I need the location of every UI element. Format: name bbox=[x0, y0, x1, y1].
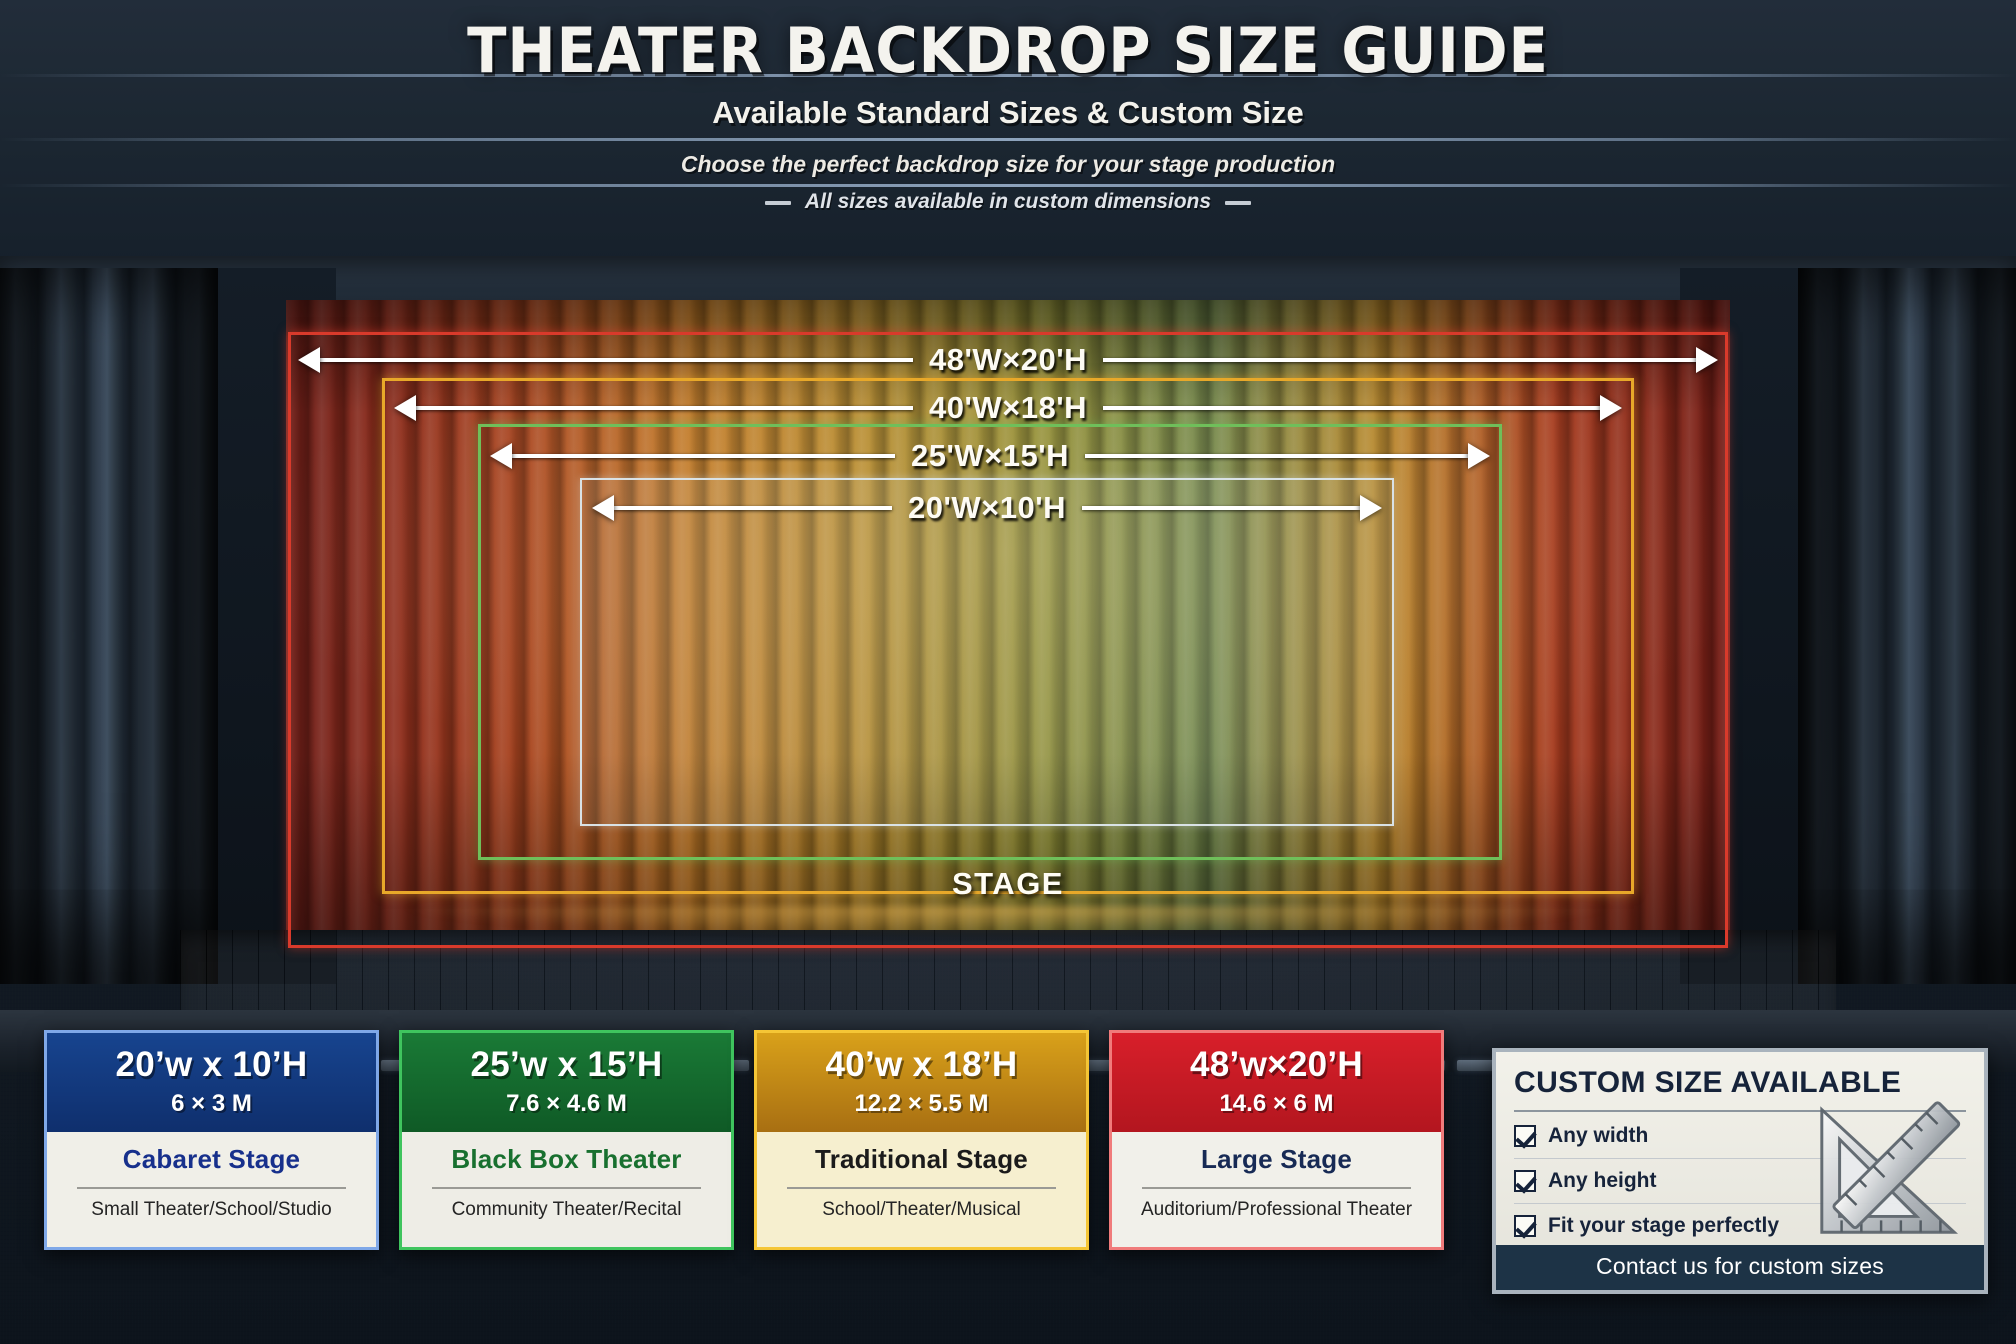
custom-size-panel[interactable]: CUSTOM SIZE AVAILABLE Any width Any heig… bbox=[1492, 1048, 1988, 1294]
arrow-right-icon bbox=[1468, 443, 1490, 469]
card-body: Large Stage Auditorium/Professional Thea… bbox=[1112, 1132, 1441, 1247]
card-header: 25’w x 15’H 7.6 × 4.6 M bbox=[402, 1033, 731, 1132]
dimension-arrow-40x18: 40'W×18'H bbox=[394, 390, 1622, 426]
page-subtitle: Available Standard Sizes & Custom Size bbox=[0, 95, 2016, 131]
arrow-right-icon bbox=[1696, 347, 1718, 373]
dimension-arrow-48x20: 48'W×20'H bbox=[298, 342, 1718, 378]
card-metric: 14.6 × 6 M bbox=[1118, 1090, 1435, 1118]
overlay-20x10[interactable] bbox=[580, 478, 1394, 826]
arrow-line bbox=[416, 406, 913, 410]
card-usecase: Community Theater/Recital bbox=[452, 1199, 682, 1221]
card-separator bbox=[77, 1187, 346, 1189]
card-title: Cabaret Stage bbox=[123, 1144, 300, 1175]
card-usecase: School/Theater/Musical bbox=[822, 1199, 1021, 1221]
card-metric: 6 × 3 M bbox=[53, 1090, 370, 1118]
checkbox-checked-icon[interactable] bbox=[1514, 1125, 1536, 1147]
arrow-line bbox=[1103, 406, 1600, 410]
page-title: THEATER BACKDROP SIZE GUIDE bbox=[71, 18, 1946, 83]
arrow-left-icon bbox=[490, 443, 512, 469]
header: THEATER BACKDROP SIZE GUIDE Available St… bbox=[0, 18, 2016, 214]
card-body: Traditional Stage School/Theater/Musical bbox=[757, 1132, 1086, 1247]
checkbox-checked-icon[interactable] bbox=[1514, 1170, 1536, 1192]
size-card-list: 20’w x 10’H 6 × 3 M Cabaret Stage Small … bbox=[44, 1030, 1444, 1250]
arrow-line bbox=[614, 506, 892, 510]
card-metric: 7.6 × 4.6 M bbox=[408, 1090, 725, 1118]
arrow-left-icon bbox=[298, 347, 320, 373]
card-metric: 12.2 × 5.5 M bbox=[763, 1090, 1080, 1118]
dimension-label-48x20: 48'W×20'H bbox=[913, 342, 1103, 378]
arrow-line bbox=[1085, 454, 1468, 458]
size-card-large[interactable]: 48’w×20’H 14.6 × 6 M Large Stage Auditor… bbox=[1109, 1030, 1444, 1250]
arrow-line bbox=[512, 454, 895, 458]
dimension-arrow-20x10: 20'W×10'H bbox=[592, 490, 1382, 526]
card-title: Black Box Theater bbox=[451, 1144, 681, 1175]
tagline-secondary-text: All sizes available in custom dimensions bbox=[805, 190, 1211, 213]
arrow-line bbox=[1082, 506, 1360, 510]
size-card-traditional[interactable]: 40’w x 18’H 12.2 × 5.5 M Traditional Sta… bbox=[754, 1030, 1089, 1250]
stage-label: STAGE bbox=[0, 866, 2016, 902]
card-dimension: 25’w x 15’H bbox=[408, 1045, 725, 1085]
dimension-label-40x18: 40'W×18'H bbox=[913, 390, 1103, 426]
ruler-triangle-icon bbox=[1806, 1093, 1974, 1243]
custom-panel-footer[interactable]: Contact us for custom sizes bbox=[1496, 1245, 1984, 1290]
page-tagline: Choose the perfect backdrop size for you… bbox=[0, 151, 2016, 178]
page-tagline-secondary: All sizes available in custom dimensions bbox=[0, 190, 2016, 214]
card-dimension: 48’w×20’H bbox=[1118, 1045, 1435, 1085]
size-card-black-box[interactable]: 25’w x 15’H 7.6 × 4.6 M Black Box Theate… bbox=[399, 1030, 734, 1250]
overlay-20x10-frame bbox=[580, 478, 1394, 826]
custom-feature-label: Any width bbox=[1548, 1124, 1648, 1148]
dimension-label-25x15: 25'W×15'H bbox=[895, 438, 1085, 474]
card-separator bbox=[787, 1187, 1056, 1189]
arrow-right-icon bbox=[1600, 395, 1622, 421]
custom-panel-body: CUSTOM SIZE AVAILABLE Any width Any heig… bbox=[1496, 1052, 1984, 1245]
card-usecase: Small Theater/School/Studio bbox=[91, 1199, 331, 1221]
dimension-arrow-25x15: 25'W×15'H bbox=[490, 438, 1490, 474]
dimension-label-20x10: 20'W×10'H bbox=[892, 490, 1082, 526]
dash-left bbox=[765, 201, 791, 205]
custom-feature-label: Fit your stage perfectly bbox=[1548, 1214, 1779, 1238]
custom-feature-label: Any height bbox=[1548, 1169, 1657, 1193]
card-separator bbox=[432, 1187, 701, 1189]
arrow-line bbox=[320, 358, 913, 362]
arrow-right-icon bbox=[1360, 495, 1382, 521]
card-title: Large Stage bbox=[1201, 1144, 1352, 1175]
card-usecase: Auditorium/Professional Theater bbox=[1141, 1199, 1412, 1221]
card-title: Traditional Stage bbox=[815, 1144, 1028, 1175]
arrow-left-icon bbox=[592, 495, 614, 521]
card-body: Cabaret Stage Small Theater/School/Studi… bbox=[47, 1132, 376, 1247]
arrow-line bbox=[1103, 358, 1696, 362]
card-separator bbox=[1142, 1187, 1411, 1189]
arrow-left-icon bbox=[394, 395, 416, 421]
dash-right bbox=[1225, 201, 1251, 205]
card-header: 40’w x 18’H 12.2 × 5.5 M bbox=[757, 1033, 1086, 1132]
card-header: 20’w x 10’H 6 × 3 M bbox=[47, 1033, 376, 1132]
card-dimension: 40’w x 18’H bbox=[763, 1045, 1080, 1085]
card-dimension: 20’w x 10’H bbox=[53, 1045, 370, 1085]
size-card-cabaret[interactable]: 20’w x 10’H 6 × 3 M Cabaret Stage Small … bbox=[44, 1030, 379, 1250]
card-header: 48’w×20’H 14.6 × 6 M bbox=[1112, 1033, 1441, 1132]
checkbox-checked-icon[interactable] bbox=[1514, 1215, 1536, 1237]
card-body: Black Box Theater Community Theater/Reci… bbox=[402, 1132, 731, 1247]
